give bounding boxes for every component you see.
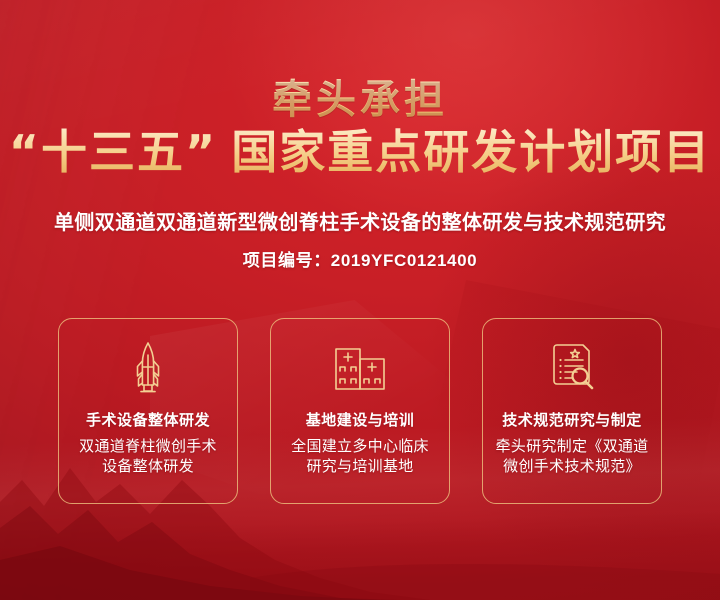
card-description-line: 牵头研究制定《双通道 bbox=[495, 437, 648, 457]
card-description-line: 全国建立多中心临床 bbox=[291, 437, 429, 457]
headline-primary: 牵头承担 bbox=[0, 78, 720, 122]
card-title: 手术设备整体研发 bbox=[86, 409, 210, 430]
feature-card-list: 手术设备整体研发 双通道脊柱微创手术 设备整体研发 bbox=[58, 318, 662, 504]
project-subtitle: 单侧双通道双通道新型微创脊柱手术设备的整体研发与技术规范研究 bbox=[0, 206, 720, 235]
feature-card[interactable]: 技术规范研究与制定 牵头研究制定《双通道 微创手术技术规范》 bbox=[482, 318, 662, 504]
project-number: 项目编号：2019YFC0121400 bbox=[0, 246, 720, 271]
document-magnifier-icon bbox=[547, 343, 597, 393]
headline-secondary: “十三五”国家重点研发计划项目 bbox=[0, 126, 720, 179]
poster-root: 牵头承担 “十三五”国家重点研发计划项目 单侧双通道双通道新型微创脊柱手术设备的… bbox=[0, 0, 720, 600]
card-description: 全国建立多中心临床 研究与培训基地 bbox=[291, 437, 429, 478]
card-icon-slot bbox=[128, 341, 168, 395]
background-band-lower bbox=[0, 511, 720, 600]
card-description-line: 微创手术技术规范》 bbox=[495, 457, 648, 477]
card-description-line: 设备整体研发 bbox=[79, 457, 217, 477]
card-description: 双通道脊柱微创手术 设备整体研发 bbox=[79, 437, 217, 478]
feature-card[interactable]: 手术设备整体研发 双通道脊柱微创手术 设备整体研发 bbox=[58, 318, 238, 504]
hospital-building-icon bbox=[332, 345, 388, 391]
card-description-line: 双通道脊柱微创手术 bbox=[79, 437, 217, 457]
card-icon-slot bbox=[547, 341, 597, 395]
headline-block: 牵头承担 “十三五”国家重点研发计划项目 bbox=[0, 78, 720, 179]
feature-card[interactable]: 基地建设与培训 全国建立多中心临床 研究与培训基地 bbox=[270, 318, 450, 504]
card-title: 技术规范研究与制定 bbox=[502, 409, 642, 430]
headline-program-name: 国家重点研发计划项目 bbox=[231, 126, 711, 178]
card-icon-slot bbox=[332, 341, 388, 395]
headline-quoted-term: “十三五” bbox=[9, 125, 217, 179]
card-title: 基地建设与培训 bbox=[306, 409, 415, 430]
rocket-icon bbox=[128, 341, 168, 395]
card-description-line: 研究与培训基地 bbox=[291, 457, 429, 477]
card-description: 牵头研究制定《双通道 微创手术技术规范》 bbox=[495, 437, 648, 478]
